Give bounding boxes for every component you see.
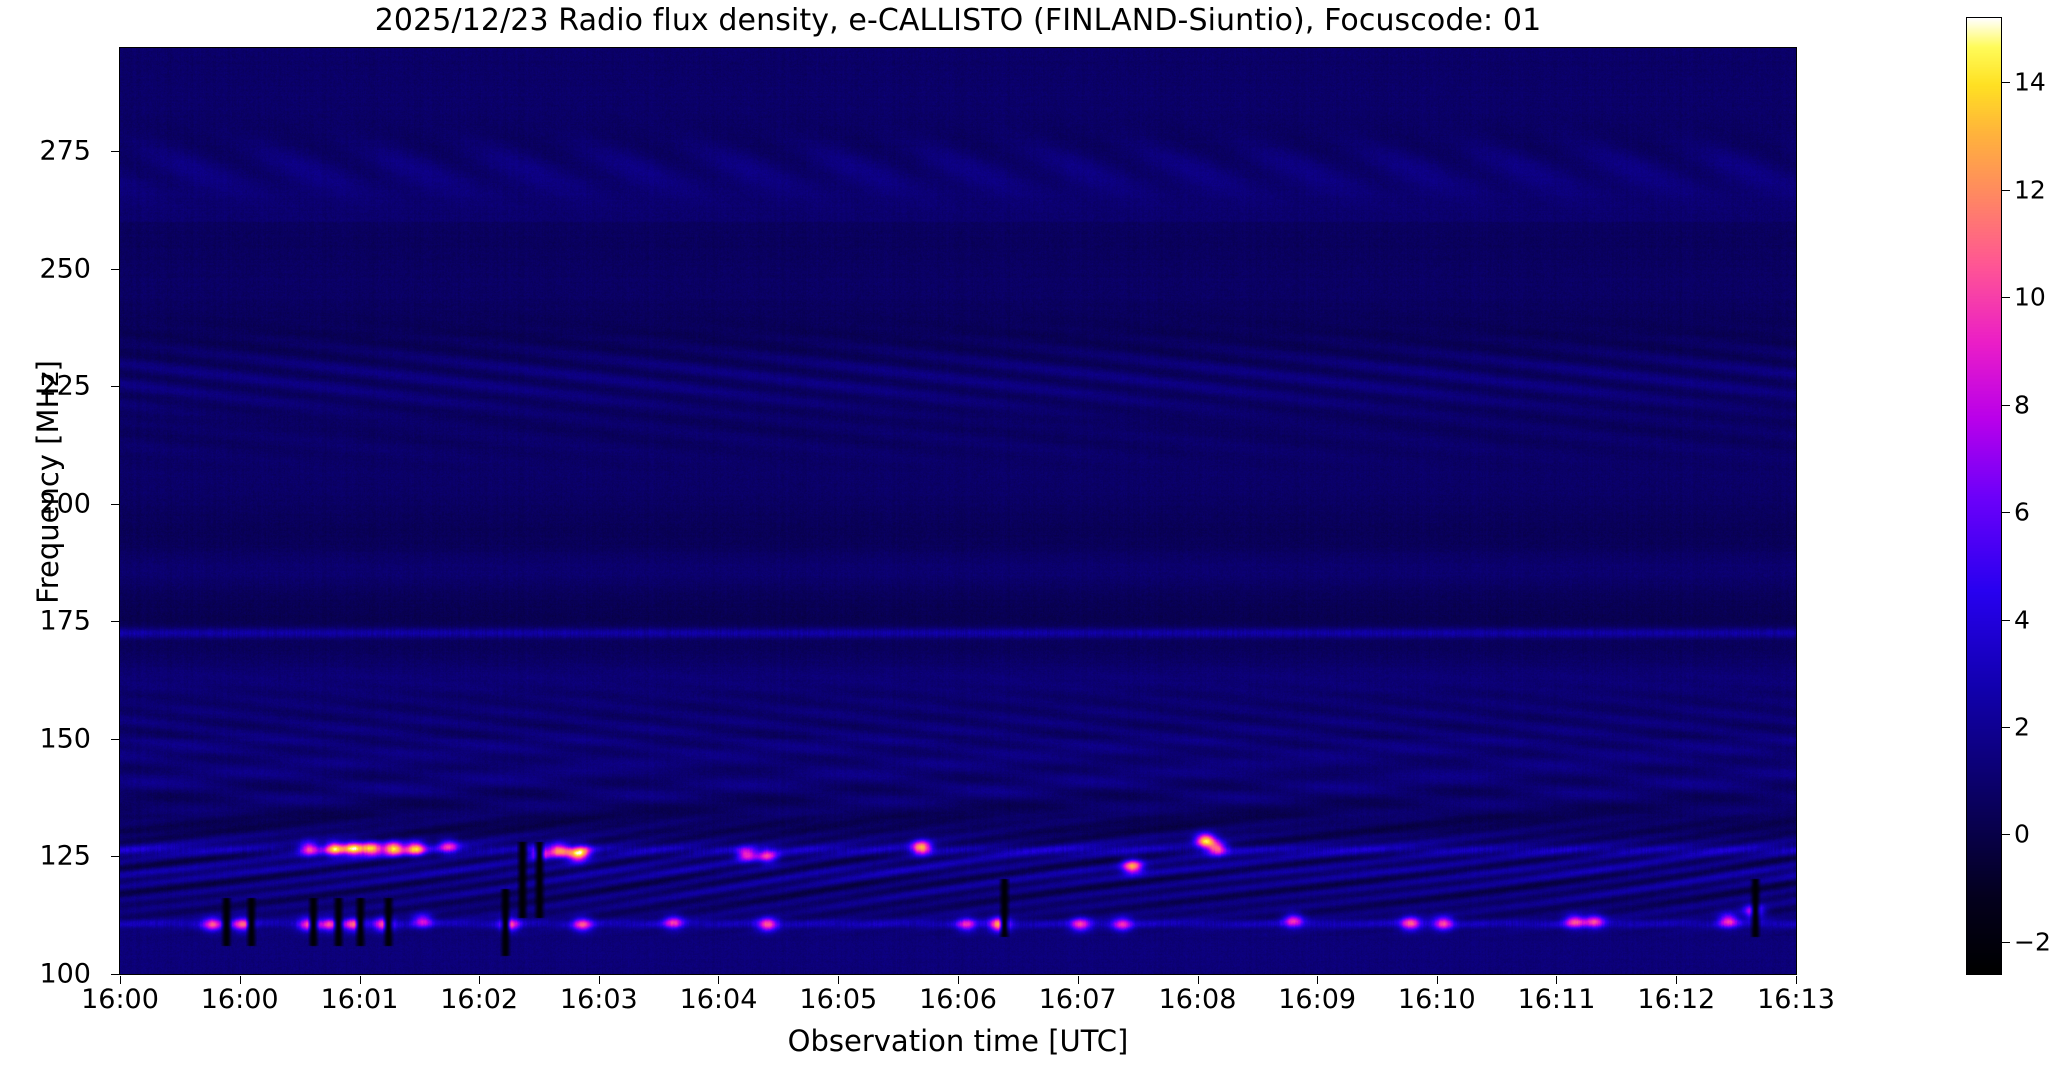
x-axis-tick-mark: [479, 976, 480, 984]
colorbar-tick-label: 10: [2014, 283, 2046, 312]
colorbar-tick-mark: [2002, 727, 2010, 728]
colorbar-tick-label: 12: [2014, 175, 2046, 204]
colorbar-tick-label: 0: [2014, 820, 2030, 849]
x-axis-tick-label: 16:12: [1637, 984, 1715, 1015]
colorbar-tick-label: 2: [2014, 712, 2030, 741]
x-axis-tick-label: 16:00: [201, 984, 279, 1015]
spectrogram-canvas: [120, 48, 1796, 974]
y-axis-tick-mark: [111, 974, 119, 975]
x-axis-tick-label: 16:11: [1518, 984, 1596, 1015]
x-axis-tick-label: 16:01: [321, 984, 399, 1015]
x-axis-tick-label: 16:09: [1278, 984, 1356, 1015]
spectrogram-plot-area: [119, 47, 1797, 975]
colorbar-tick-mark: [2002, 512, 2010, 513]
x-axis-tick-mark: [1317, 976, 1318, 984]
y-axis-tick-mark: [111, 151, 119, 152]
colorbar: [1966, 17, 2002, 975]
y-axis-tick-label: 150: [39, 723, 91, 754]
x-axis-tick-mark: [360, 976, 361, 984]
x-axis-tick-mark: [958, 976, 959, 984]
colorbar-tick-label: 14: [2014, 68, 2046, 97]
colorbar-tick-mark: [2002, 82, 2010, 83]
y-axis-label: Frequency [MHz]: [31, 312, 65, 652]
x-axis-label: Observation time [UTC]: [119, 1024, 1797, 1058]
x-axis-tick-label: 16:07: [1039, 984, 1117, 1015]
figure-title: 2025/12/23 Radio flux density, e-CALLIST…: [119, 4, 1797, 38]
x-axis-tick-mark: [718, 976, 719, 984]
y-axis-tick-label: 125: [39, 841, 91, 872]
x-axis-tick-label: 16:00: [81, 984, 159, 1015]
x-axis-tick-label: 16:05: [799, 984, 877, 1015]
x-axis-tick-mark: [1556, 976, 1557, 984]
y-axis-tick-mark: [111, 504, 119, 505]
y-axis-tick-mark: [111, 621, 119, 622]
colorbar-tick-label: −2: [2014, 927, 2051, 956]
x-axis-tick-mark: [599, 976, 600, 984]
y-axis-tick-mark: [111, 386, 119, 387]
y-axis-tick-label: 250: [39, 253, 91, 284]
x-axis-tick-label: 16:02: [440, 984, 518, 1015]
y-axis-tick-mark: [111, 269, 119, 270]
x-axis-tick-mark: [1676, 976, 1677, 984]
y-axis-tick-mark: [111, 739, 119, 740]
colorbar-canvas: [1967, 18, 2001, 974]
spectrogram-figure: 2025/12/23 Radio flux density, e-CALLIST…: [0, 0, 2066, 1067]
colorbar-tick-mark: [2002, 620, 2010, 621]
y-axis-tick-label: 275: [39, 136, 91, 167]
x-axis-tick-mark: [1078, 976, 1079, 984]
colorbar-tick-label: 6: [2014, 498, 2030, 527]
x-axis-tick-mark: [1198, 976, 1199, 984]
y-axis-tick-mark: [111, 856, 119, 857]
colorbar-tick-mark: [2002, 190, 2010, 191]
x-axis-tick-label: 16:04: [680, 984, 758, 1015]
x-axis-tick-mark: [1437, 976, 1438, 984]
x-axis-tick-label: 16:10: [1398, 984, 1476, 1015]
colorbar-tick-mark: [2002, 942, 2010, 943]
x-axis-tick-label: 16:08: [1159, 984, 1237, 1015]
x-axis-tick-mark: [1796, 976, 1797, 984]
colorbar-tick-mark: [2002, 834, 2010, 835]
x-axis-tick-mark: [838, 976, 839, 984]
x-axis-tick-label: 16:13: [1757, 984, 1835, 1015]
colorbar-tick-label: 4: [2014, 605, 2030, 634]
colorbar-tick-mark: [2002, 297, 2010, 298]
colorbar-tick-label: 8: [2014, 390, 2030, 419]
colorbar-tick-mark: [2002, 405, 2010, 406]
x-axis-tick-label: 16:06: [919, 984, 997, 1015]
x-axis-tick-label: 16:03: [560, 984, 638, 1015]
x-axis-tick-mark: [240, 976, 241, 984]
x-axis-tick-mark: [120, 976, 121, 984]
